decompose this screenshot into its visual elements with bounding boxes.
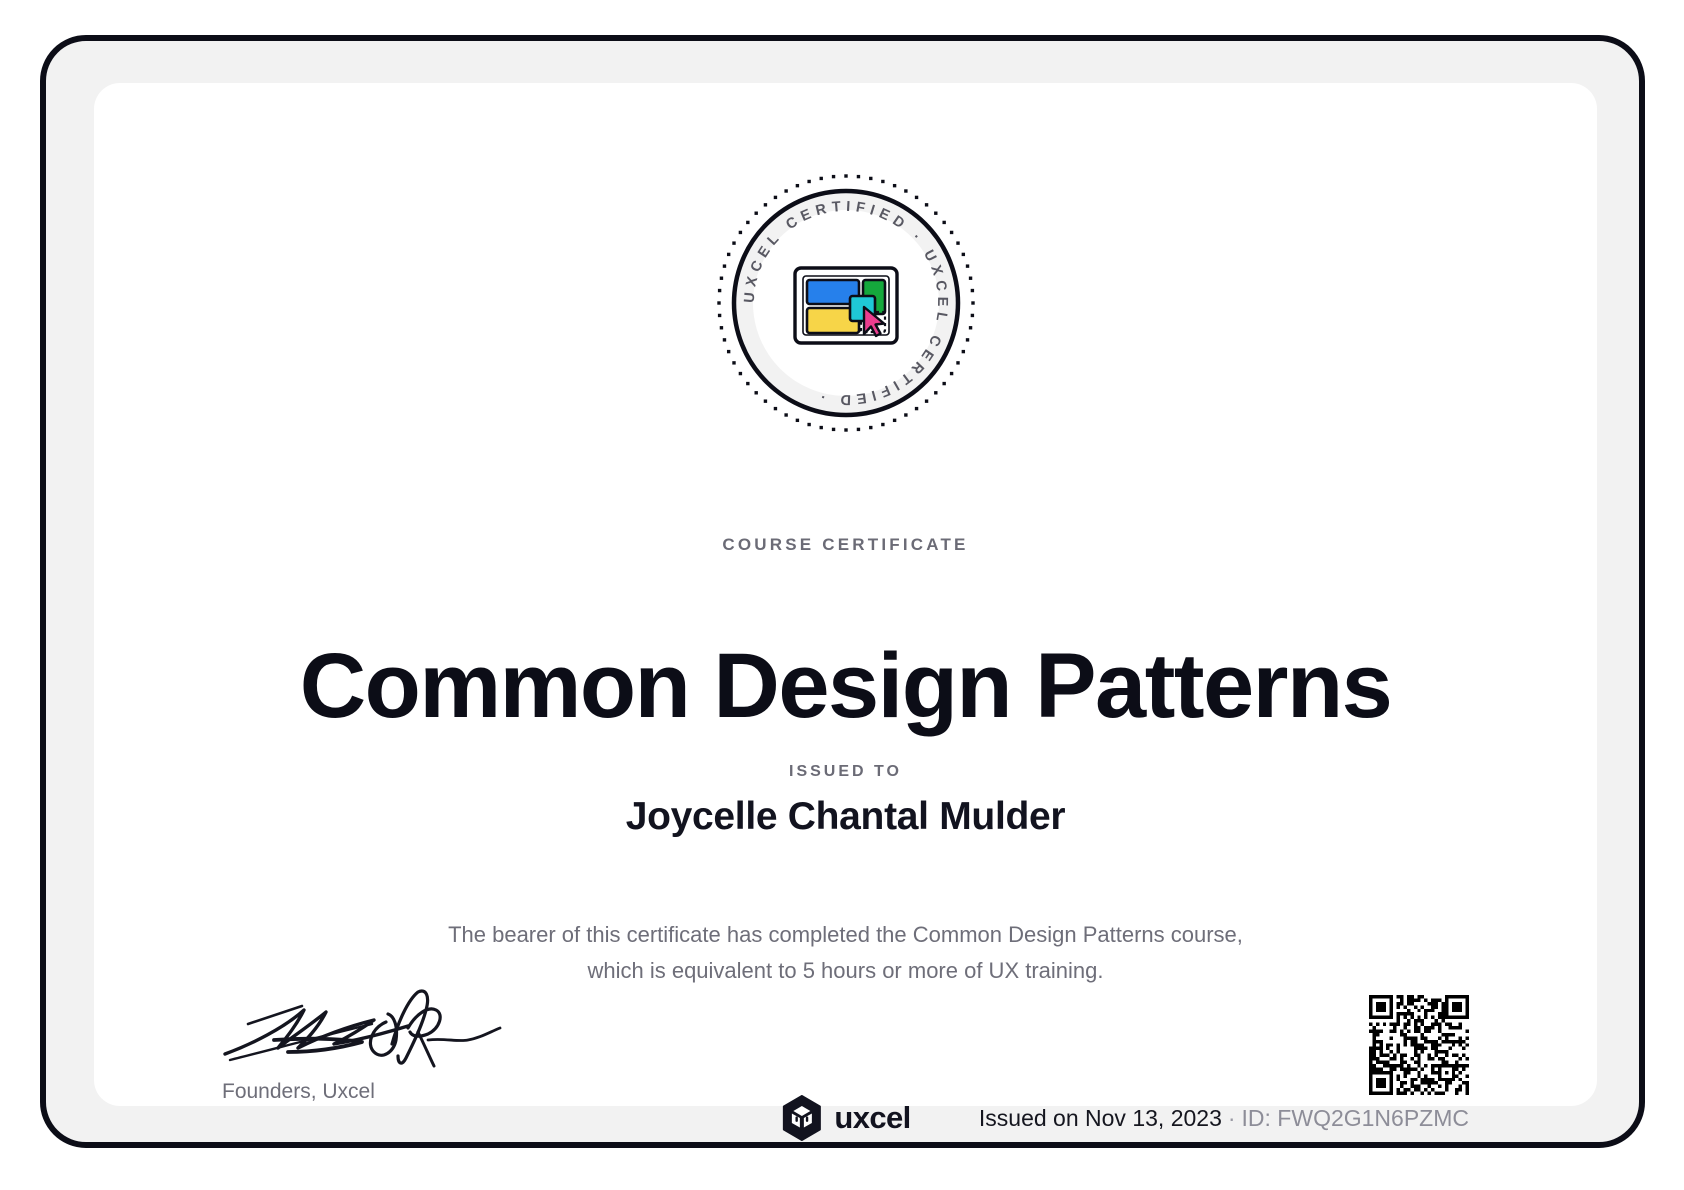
certificate-title: Common Design Patterns	[94, 637, 1597, 736]
recipient-name: Joycelle Chantal Mulder	[94, 795, 1597, 839]
founder-signatures	[222, 988, 552, 1072]
certificate-id: ID: FWQ2G1N6PZMC	[1242, 1105, 1469, 1131]
issued-to-label: ISSUED TO	[94, 763, 1597, 781]
verification-qr-code[interactable]	[1369, 995, 1469, 1095]
signature-one-icon	[225, 1006, 408, 1060]
course-certificate-kicker: COURSE CERTIFICATE	[94, 535, 1597, 555]
uxcel-hexagon-cube-logo	[780, 1095, 822, 1141]
uxcel-certified-seal: UXCEL CERTIFIED · UXCEL CERTIFIED ·	[711, 168, 981, 438]
certificate-card: UXCEL CERTIFIED · UXCEL CERTIFIED · COUR…	[94, 83, 1597, 1106]
issued-on-date: Issued on Nov 13, 2023	[979, 1105, 1222, 1131]
brand-logo: uxcel	[780, 1095, 910, 1141]
founders-label: Founders, Uxcel	[222, 1080, 552, 1104]
issuance-meta: Issued on Nov 13, 2023·ID: FWQ2G1N6PZMC	[979, 1105, 1469, 1132]
signature-block: Founders, Uxcel	[222, 988, 552, 1104]
certificate-description: The bearer of this certificate has compl…	[436, 917, 1256, 988]
design-patterns-icon	[795, 268, 897, 343]
certificate-frame: UXCEL CERTIFIED · UXCEL CERTIFIED · COUR…	[40, 35, 1645, 1148]
meta-separator: ·	[1222, 1105, 1242, 1131]
signature-two-icon	[370, 991, 500, 1066]
brand-wordmark: uxcel	[834, 1100, 910, 1136]
